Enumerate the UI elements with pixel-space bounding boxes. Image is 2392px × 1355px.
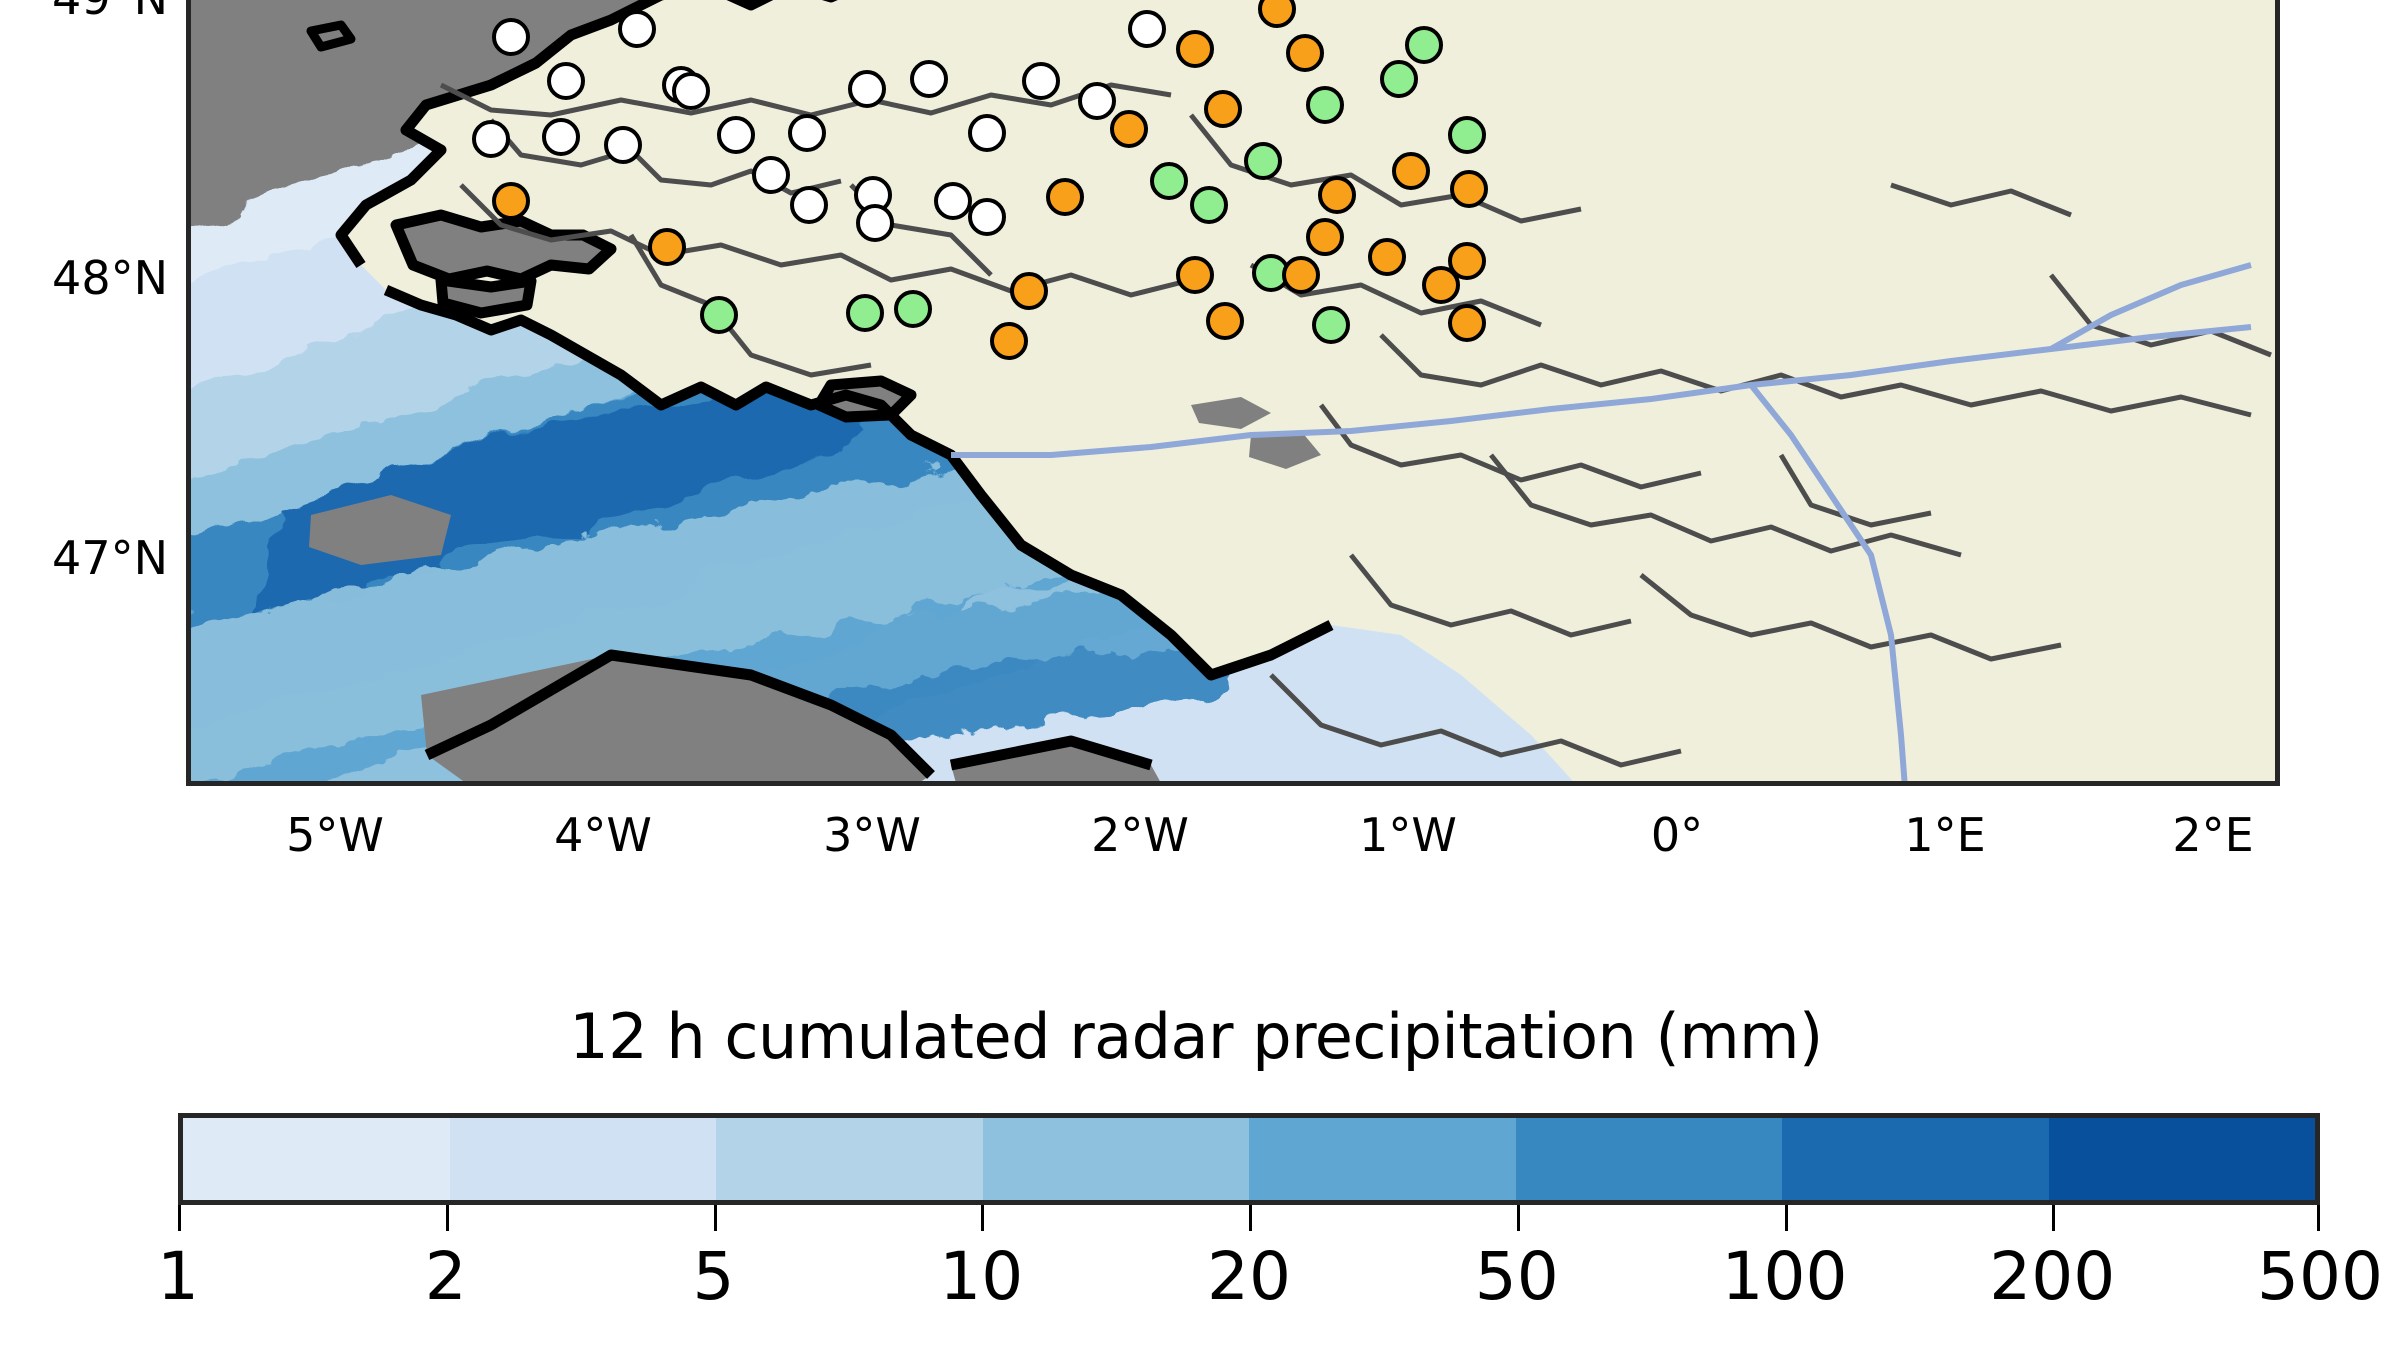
coastline-island — [311, 25, 351, 47]
station-marker — [1318, 176, 1356, 214]
station-marker — [492, 18, 530, 56]
station-marker — [856, 204, 894, 242]
station-marker — [618, 10, 656, 48]
xtick-1w: 1°W — [1359, 808, 1457, 862]
colorbar-ticks — [178, 1205, 2320, 1231]
station-marker — [968, 198, 1006, 236]
colorbar-tick-2 — [446, 1205, 449, 1231]
station-marker — [1380, 60, 1418, 98]
colorbar-label-10: 10 — [939, 1238, 1023, 1315]
colorbar-tick-100 — [1785, 1205, 1788, 1231]
colorbar-swatch-5 — [1516, 1118, 1783, 1200]
station-marker — [1392, 152, 1430, 190]
station-marker — [472, 120, 510, 158]
station-marker — [604, 126, 642, 164]
station-marker — [1010, 272, 1048, 310]
station-marker — [1190, 186, 1228, 224]
colorbar-swatch-3 — [983, 1118, 1250, 1200]
station-marker — [968, 114, 1006, 152]
colorbar-title: 12 h cumulated radar precipitation (mm) — [0, 1000, 2392, 1073]
xtick-5w: 5°W — [286, 808, 384, 862]
colorbar-tick-labels: 125102050100200500 — [178, 1238, 2320, 1328]
station-marker — [894, 290, 932, 328]
colorbar-label-500: 500 — [2257, 1238, 2383, 1315]
colorbar-label-200: 200 — [1989, 1238, 2115, 1315]
colorbar-label-100: 100 — [1722, 1238, 1848, 1315]
colorbar-swatch-0 — [183, 1118, 450, 1200]
colorbar-label-50: 50 — [1475, 1238, 1559, 1315]
station-marker — [1046, 178, 1084, 216]
xtick-3w: 3°W — [823, 808, 921, 862]
coastline-south — [386, 290, 1331, 675]
station-marker — [492, 182, 530, 220]
coastline-patch-se — [951, 741, 1151, 765]
station-marker — [990, 322, 1028, 360]
colorbar-tick-50 — [1517, 1205, 1520, 1231]
colorbar-tick-1 — [178, 1205, 181, 1231]
latitude-axis: 49°N 48°N 47°N — [0, 0, 186, 786]
colorbar-swatch-6 — [1782, 1118, 2049, 1200]
station-marker — [1448, 116, 1486, 154]
station-marker — [1128, 10, 1166, 48]
colorbar-swatch-4 — [1249, 1118, 1516, 1200]
station-marker — [542, 118, 580, 156]
colorbar-tick-500 — [2317, 1205, 2320, 1231]
station-marker — [934, 182, 972, 220]
station-marker — [1204, 90, 1242, 128]
colorbar-label-5: 5 — [693, 1238, 735, 1315]
xtick-0: 0° — [1651, 808, 1703, 862]
station-marker — [846, 294, 884, 332]
station-marker — [788, 114, 826, 152]
precipitation-map — [186, 0, 2280, 786]
station-marker — [1286, 34, 1324, 72]
colorbar-swatch-2 — [716, 1118, 983, 1200]
station-marker — [1022, 62, 1060, 100]
station-marker — [1306, 218, 1344, 256]
station-marker — [1306, 86, 1344, 124]
colorbar — [178, 1113, 2320, 1205]
station-marker — [1078, 82, 1116, 120]
station-marker — [547, 62, 585, 100]
station-marker — [1176, 256, 1214, 294]
colorbar-swatch-7 — [2049, 1118, 2316, 1200]
station-marker — [1176, 30, 1214, 68]
xtick-4w: 4°W — [554, 808, 652, 862]
station-marker — [1448, 242, 1486, 280]
coastline-south-strip — [427, 655, 931, 775]
station-marker — [1368, 238, 1406, 276]
colorbar-label-2: 2 — [425, 1238, 467, 1315]
station-marker — [717, 116, 755, 154]
station-marker — [1450, 170, 1488, 208]
ytick-49n: 49°N — [52, 0, 168, 25]
station-marker — [1282, 256, 1320, 294]
station-marker — [752, 156, 790, 194]
station-marker — [1405, 26, 1443, 64]
department-borders — [441, 85, 2271, 765]
coastline-inlet-b — [441, 280, 531, 313]
station-marker — [848, 70, 886, 108]
station-marker — [910, 60, 948, 98]
station-marker — [790, 186, 828, 224]
station-marker — [1110, 110, 1148, 148]
station-marker — [1448, 304, 1486, 342]
station-marker — [1206, 302, 1244, 340]
xtick-2w: 2°W — [1091, 808, 1189, 862]
colorbar-label-1: 1 — [157, 1238, 199, 1315]
longitude-axis: 5°W 4°W 3°W 2°W 1°W 0° 1°E 2°E — [186, 786, 2280, 896]
ytick-47n: 47°N — [52, 531, 168, 585]
colorbar-tick-5 — [714, 1205, 717, 1231]
station-marker — [1244, 142, 1282, 180]
station-marker — [1150, 162, 1188, 200]
colorbar-label-20: 20 — [1207, 1238, 1291, 1315]
station-marker — [700, 296, 738, 334]
colorbar-swatch-1 — [450, 1118, 717, 1200]
ytick-48n: 48°N — [52, 251, 168, 305]
station-marker — [1312, 306, 1350, 344]
colorbar-tick-10 — [981, 1205, 984, 1231]
colorbar-tick-20 — [1249, 1205, 1252, 1231]
xtick-1e: 1°E — [1904, 808, 1985, 862]
station-marker — [648, 228, 686, 266]
colorbar-tick-200 — [2052, 1205, 2055, 1231]
map-clip — [191, 0, 2275, 781]
station-marker — [672, 72, 710, 110]
xtick-2e: 2°E — [2172, 808, 2253, 862]
